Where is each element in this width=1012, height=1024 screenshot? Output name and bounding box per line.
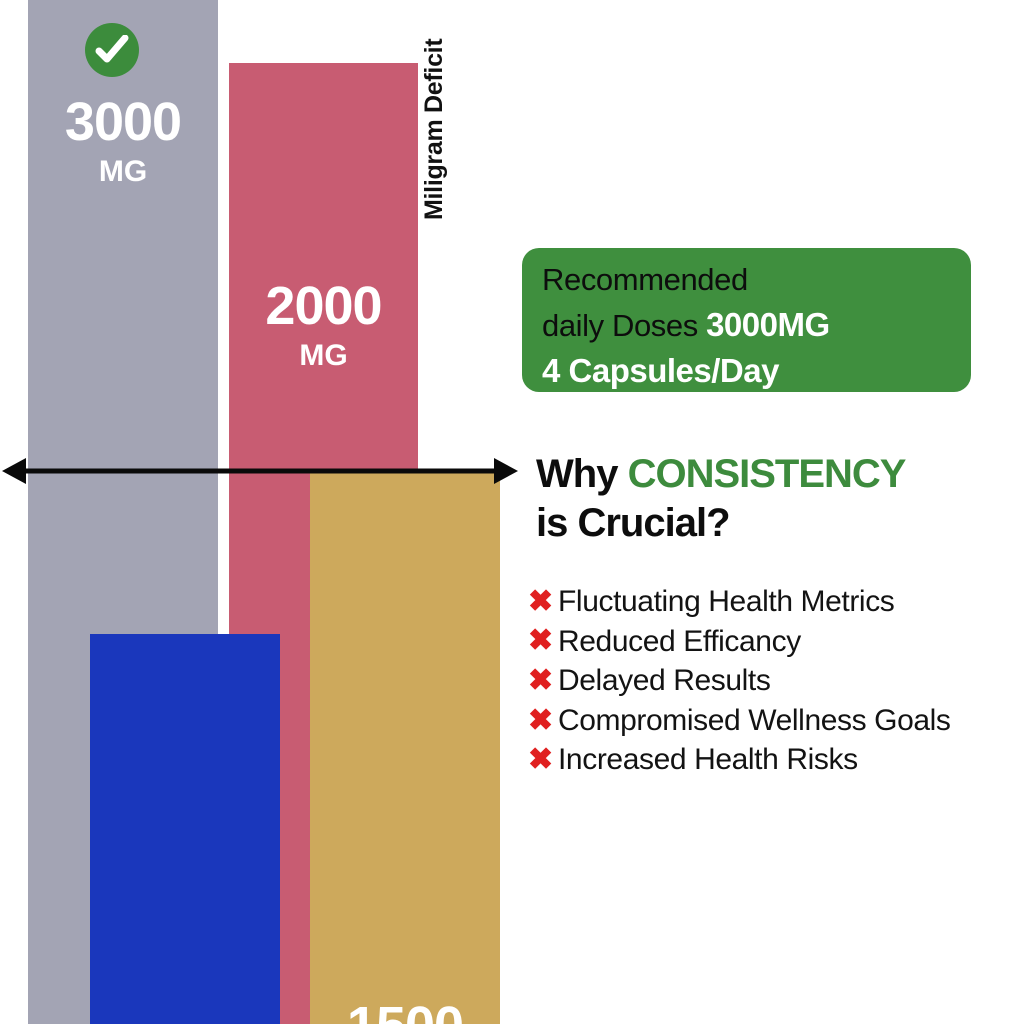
list-item: ✖ Reduced Efficancy [528,625,1012,659]
heading-line-2: is Crucial? [536,501,730,545]
risk-list: ✖ Fluctuating Health Metrics ✖ Reduced E… [528,585,1012,783]
recommended-dose-callout: Recommended daily Doses 3000MG 4 Capsule… [522,248,971,392]
cross-icon: ✖ [528,706,558,736]
bar-1300mg: 1300 MG [90,634,280,1024]
bar-label-2000mg: 2000 MG [229,279,418,371]
list-item-label: Reduced Efficancy [558,625,801,659]
heading-highlight-consistency: CONSISTENCY [628,452,906,496]
list-item-label: Increased Health Risks [558,743,858,777]
list-item: ✖ Increased Health Risks [528,743,1012,777]
bar-unit-3000: MG [28,157,218,187]
cross-icon: ✖ [528,666,558,696]
dose-daily-doses-text: daily Doses [542,308,698,343]
dose-capsules-per-day: 4 Capsules/Day [542,352,779,389]
list-item-label: Compromised Wellness Goals [558,704,951,738]
infographic-canvas: 3000 MG 2000 MG 1500 MG 1300 MG Miligram… [0,0,1012,1024]
bar-value-3000: 3000 [28,95,218,149]
page-title: Why CONSISTENCY is Crucial? [536,450,1012,548]
dose-line-2: daily Doses 3000MG [542,302,953,348]
dose-amount-value: 3000MG [706,306,830,343]
list-item: ✖ Fluctuating Health Metrics [528,585,1012,619]
check-icon [85,23,139,77]
list-item-label: Fluctuating Health Metrics [558,585,894,619]
list-item-label: Delayed Results [558,664,770,698]
list-item: ✖ Delayed Results [528,664,1012,698]
bar-value-1500: 1500 [310,999,500,1024]
cross-icon: ✖ [528,745,558,775]
bar-unit-2000: MG [229,341,418,371]
cross-icon: ✖ [528,587,558,617]
dose-line-1: Recommended [542,259,953,302]
bar-label-3000mg: 3000 MG [28,95,218,187]
double-arrow-icon [0,450,520,492]
heading-word-why: Why [536,452,617,496]
bar-value-2000: 2000 [229,279,418,333]
axis-label-miligram-deficit: Miligram Deficit [420,0,449,220]
bar-1500mg: 1500 MG [310,472,500,1024]
dose-line-3: 4 Capsules/Day [542,348,953,394]
dose-recommended-text: Recommended [542,262,748,297]
list-item: ✖ Compromised Wellness Goals [528,704,1012,738]
cross-icon: ✖ [528,626,558,656]
bar-label-1500mg: 1500 MG [310,999,500,1024]
